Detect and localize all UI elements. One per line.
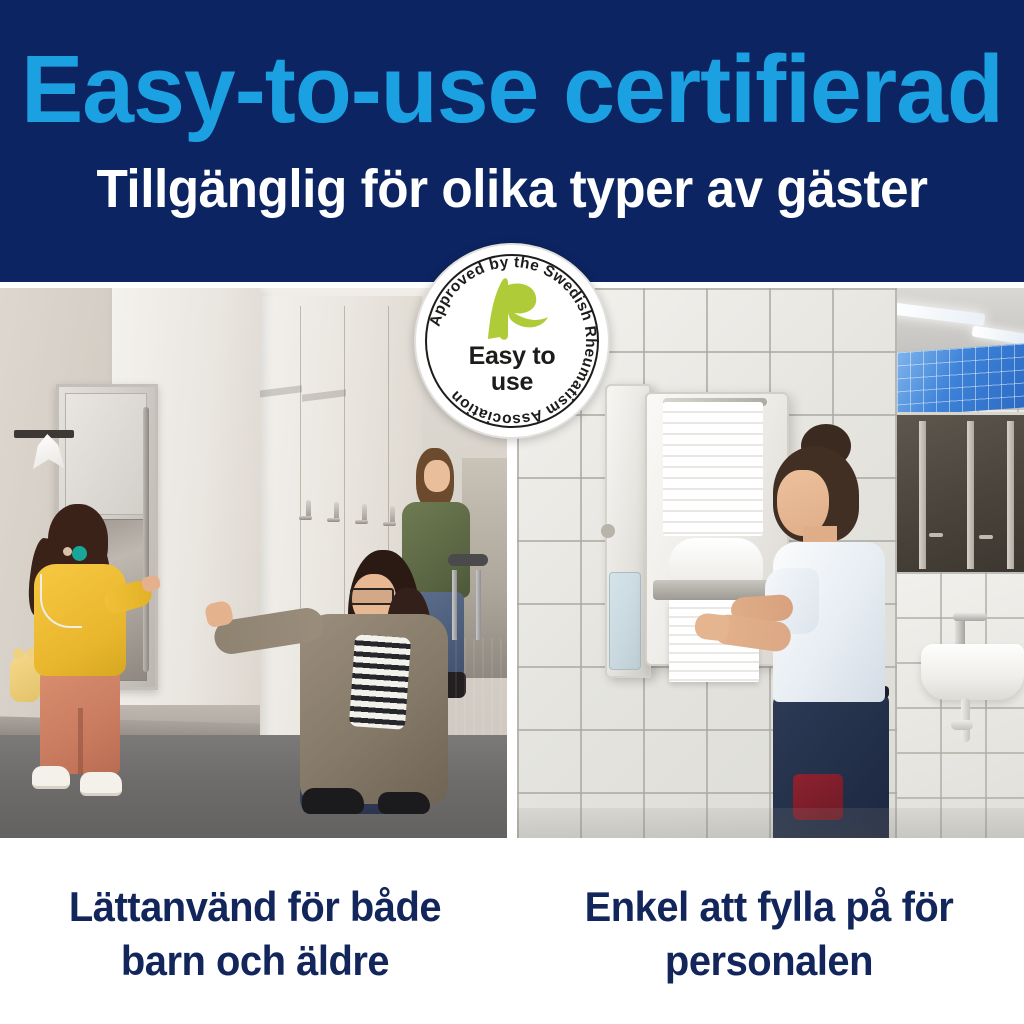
stall-door-handle	[390, 506, 395, 526]
stall-door-handle	[362, 504, 367, 524]
certification-badge: Approved by the Swedish Rheumatism Assoc…	[414, 243, 610, 439]
suitcase-handle	[448, 560, 488, 640]
woman-striped-shirt	[349, 634, 411, 730]
stall-door-handle	[306, 500, 311, 520]
dispenser-slot	[14, 430, 74, 438]
traveller-face	[424, 460, 450, 492]
rheumatism-r-logo	[468, 275, 558, 343]
child-leg-seam	[78, 708, 83, 774]
child-shoe	[32, 766, 70, 789]
dispenser-side-bar	[143, 407, 149, 672]
stall-door-frame	[967, 421, 974, 569]
badge-center-text: Easy to use	[416, 343, 608, 395]
paper-towel-feed	[669, 538, 763, 582]
stall-door-handle	[979, 535, 993, 539]
paper-towel-roll	[663, 402, 763, 536]
sink-basin	[921, 644, 1024, 700]
child-hair-tie	[72, 546, 87, 561]
dispenser-level-window	[609, 572, 641, 670]
page-subtitle: Tillgänglig för olika typer av gäster	[26, 158, 999, 220]
caption-right: Enkel att fylla på för personalen	[546, 880, 993, 988]
dispenser-hinge	[601, 524, 615, 538]
caption-row: Lättanvänd för både barn och äldre Enkel…	[0, 838, 1024, 1024]
caption-left: Lättanvänd för både barn och äldre	[32, 880, 479, 988]
child-shoe	[80, 772, 122, 796]
page-title: Easy-to-use certifierad	[15, 38, 1008, 142]
dispenser-panel	[65, 393, 147, 515]
mirror-with-stall-doors	[895, 412, 1024, 575]
stall-door-frame	[1007, 421, 1014, 569]
woman-shoe	[378, 792, 430, 814]
stall-door-handle	[334, 502, 339, 522]
poster: Easy-to-use certifierad Tillgänglig för …	[0, 0, 1024, 1024]
header-band: Easy-to-use certifierad Tillgänglig för …	[0, 0, 1024, 282]
badge-center-line1: Easy to	[416, 343, 608, 369]
woman-shoe	[302, 788, 364, 814]
lower-wall-tiles	[895, 572, 1024, 838]
sink-drain-pipe	[961, 698, 970, 742]
stall-door-frame	[919, 421, 926, 569]
woman-glasses	[350, 588, 394, 605]
staff-hand	[694, 612, 731, 641]
badge-center-line2: use	[416, 369, 608, 395]
floor-shadow	[517, 808, 1024, 838]
blue-mosaic-tile-band	[897, 344, 1024, 417]
stall-door-handle	[929, 533, 943, 537]
